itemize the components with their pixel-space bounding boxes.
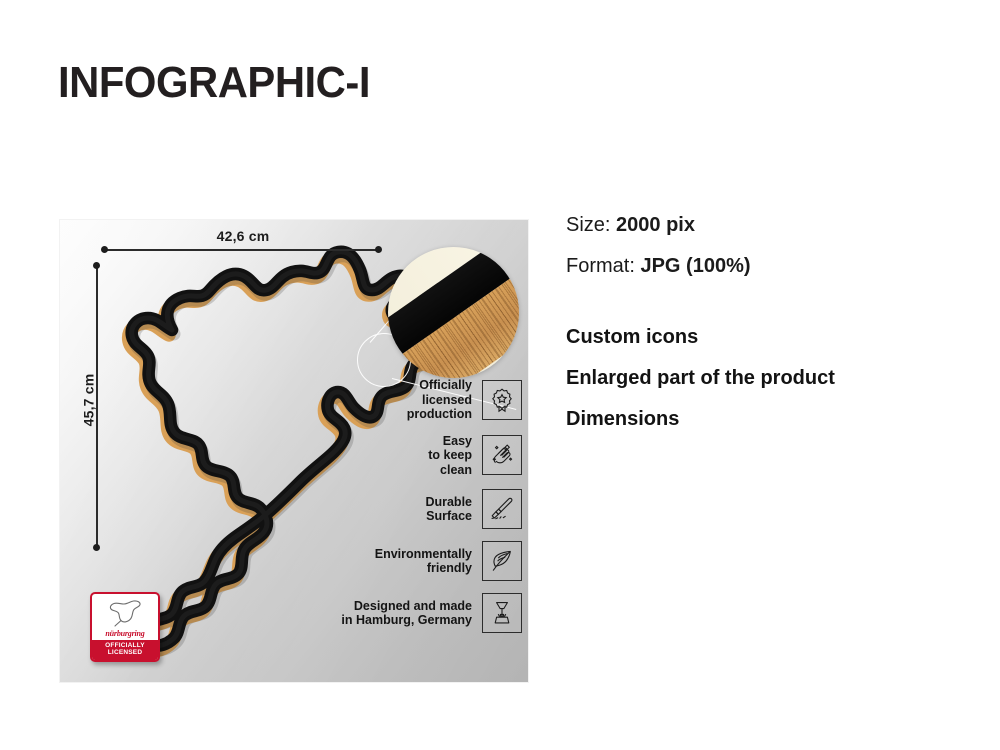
height-dimension-dot-bottom — [93, 544, 100, 551]
magnified-detail-circle — [388, 247, 519, 378]
badge-wordmark: nürburgring — [92, 630, 158, 640]
award-rosette-icon — [482, 380, 522, 420]
feature-highlight-list: Custom icons Enlarged part of the produc… — [566, 325, 966, 432]
spec-size: Size: 2000 pix — [566, 213, 966, 238]
feature-label: Designed and made in Hamburg, Germany — [341, 599, 472, 628]
highlight-enlarged-part: Enlarged part of the product — [566, 366, 966, 391]
spec-size-key: Size: — [566, 214, 610, 236]
info-column: Size: 2000 pix Format: JPG (100%) Custom… — [566, 213, 966, 448]
nurburgring-track-icon — [92, 594, 158, 630]
feature-row-environmentally-friendly: Environmentally friendly — [300, 541, 522, 581]
badge-banner: OFFICIALLY LICENSED — [92, 640, 158, 660]
impact-chisel-icon — [482, 489, 522, 529]
leaf-icon — [482, 541, 522, 581]
wiping-hand-icon — [482, 435, 522, 475]
feature-label: Durable Surface — [425, 495, 472, 524]
spec-format-key: Format: — [566, 255, 635, 277]
magnified-material-bands — [388, 247, 519, 378]
width-dimension-dot-right — [375, 246, 382, 253]
height-dimension-dot-top — [93, 262, 100, 269]
width-dimension-dot-left — [101, 246, 108, 253]
feature-list: Officially licensed production Easy to k… — [300, 378, 522, 645]
highlight-dimensions: Dimensions — [566, 407, 966, 432]
press-stamp-icon — [482, 593, 522, 633]
spec-size-value: 2000 pix — [616, 214, 695, 236]
spec-format-value: JPG (100%) — [640, 255, 750, 277]
page-title: INFOGRAPHIC-I — [58, 58, 370, 108]
feature-label: Environmentally friendly — [375, 547, 472, 576]
feature-row-easy-to-keep-clean: Easy to keep clean — [300, 434, 522, 478]
width-dimension-line — [107, 249, 379, 251]
feature-row-durable-surface: Durable Surface — [300, 489, 522, 529]
width-dimension-label: 42,6 cm — [107, 228, 379, 244]
feature-label: Easy to keep clean — [428, 434, 472, 478]
feature-row-officially-licensed-production: Officially licensed production — [300, 378, 522, 422]
feature-label: Officially licensed production — [407, 378, 472, 422]
height-dimension-label: 45,7 cm — [80, 374, 96, 427]
feature-row-designed-and-made: Designed and made in Hamburg, Germany — [300, 593, 522, 633]
spec-format: Format: JPG (100%) — [566, 254, 966, 279]
nurburgring-licensed-badge: nürburgring OFFICIALLY LICENSED — [90, 592, 160, 662]
highlight-custom-icons: Custom icons — [566, 325, 966, 350]
